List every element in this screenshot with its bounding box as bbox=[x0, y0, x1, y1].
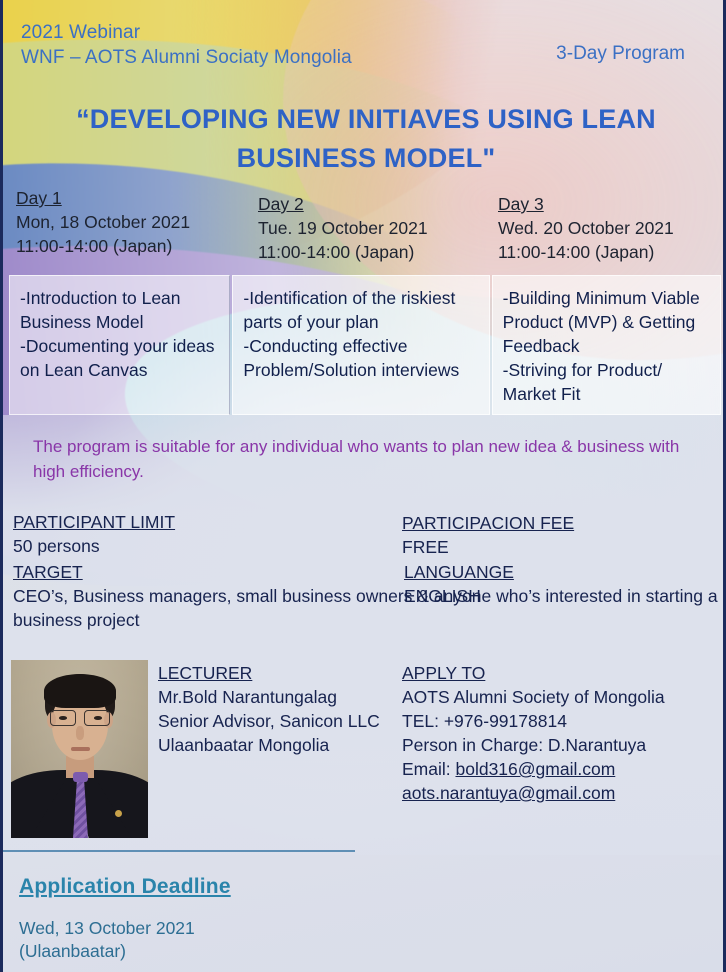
apply-to-block: APPLY TO AOTS Alumni Society of Mongolia… bbox=[402, 661, 665, 805]
language-value: ENGLISH bbox=[404, 584, 514, 608]
day-header-3: Day 3 Wed. 20 October 2021 11:00-14:00 (… bbox=[498, 192, 674, 264]
webinar-poster: 2021 Webinar WNF – AOTS Alumni Sociaty M… bbox=[0, 0, 726, 972]
day-topic-boxes: -Introduction to Lean Business Model -Do… bbox=[9, 275, 721, 415]
application-deadline-heading: Application Deadline bbox=[19, 875, 231, 899]
participant-limit-label: PARTICIPANT LIMIT bbox=[13, 511, 175, 534]
day-2-time: 11:00-14:00 (Japan) bbox=[258, 240, 428, 264]
lecturer-block: LECTURER Mr.Bold Narantungalag Senior Ad… bbox=[158, 661, 380, 757]
apply-to-organization: AOTS Alumni Society of Mongolia bbox=[402, 685, 665, 709]
day-3-title: Day 3 bbox=[498, 192, 544, 216]
glasses-icon bbox=[50, 710, 110, 725]
header-organization: 2021 Webinar WNF – AOTS Alumni Sociaty M… bbox=[21, 20, 352, 70]
page-title: “DEVELOPING NEW INITIAVES USING LEAN BUS… bbox=[41, 100, 691, 178]
day-1-time: 11:00-14:00 (Japan) bbox=[16, 234, 190, 258]
participant-limit-value: 50 persons bbox=[13, 534, 175, 558]
email-label: Email: bbox=[402, 759, 455, 779]
participation-fee-value: FREE bbox=[402, 535, 574, 559]
target-value: CEO’s, Business managers, small business… bbox=[13, 584, 723, 632]
lecturer-photo bbox=[11, 660, 148, 838]
language-label: LANGUANGE bbox=[404, 561, 514, 584]
day-3-time: 11:00-14:00 (Japan) bbox=[498, 240, 674, 264]
section-divider bbox=[3, 850, 355, 852]
apply-to-tel: TEL: +976-99178814 bbox=[402, 709, 665, 733]
day-header-2: Day 2 Tue. 19 October 2021 11:00-14:00 (… bbox=[258, 192, 428, 264]
day-2-title: Day 2 bbox=[258, 192, 304, 216]
apply-to-person-in-charge: Person in Charge: D.Narantuya bbox=[402, 733, 665, 757]
target-label: TARGET bbox=[13, 561, 723, 584]
portrait-tie-knot bbox=[73, 772, 88, 782]
apply-to-label: APPLY TO bbox=[402, 661, 665, 685]
day-header-1: Day 1 Mon, 18 October 2021 11:00-14:00 (… bbox=[16, 186, 190, 258]
section-participation-fee: PARTICIPACION FEE FREE bbox=[402, 512, 574, 559]
header-program-length: 3-Day Program bbox=[556, 42, 685, 66]
email-link-secondary[interactable]: aots.narantuya@gmail.com bbox=[402, 781, 665, 805]
section-target: TARGET CEO’s, Business managers, small b… bbox=[13, 561, 723, 632]
day-2-date: Tue. 19 October 2021 bbox=[258, 216, 428, 240]
section-language: LANGUANGE ENGLISH bbox=[404, 561, 514, 608]
apply-to-email-row: Email: bold316@gmail.com bbox=[402, 757, 665, 781]
email-link-primary[interactable]: bold316@gmail.com bbox=[455, 759, 615, 779]
portrait-mouth bbox=[71, 747, 90, 751]
day-1-title: Day 1 bbox=[16, 186, 62, 210]
portrait-hair-front bbox=[44, 674, 116, 708]
lecturer-details: Mr.Bold Narantungalag Senior Advisor, Sa… bbox=[158, 685, 380, 757]
day-3-date: Wed. 20 October 2021 bbox=[498, 216, 674, 240]
lecturer-label: LECTURER bbox=[158, 661, 380, 685]
day-1-topics: -Introduction to Lean Business Model -Do… bbox=[9, 275, 230, 415]
suitability-note: The program is suitable for any individu… bbox=[33, 434, 693, 484]
day-1-date: Mon, 18 October 2021 bbox=[16, 210, 190, 234]
participation-fee-label: PARTICIPACION FEE bbox=[402, 512, 574, 535]
application-deadline-value: Wed, 13 October 2021 (Ulaanbaatar) bbox=[19, 917, 195, 963]
portrait-nose bbox=[76, 726, 84, 740]
day-3-topics: -Building Minimum Viable Product (MVP) &… bbox=[492, 275, 721, 415]
portrait-lapel-pin bbox=[115, 810, 122, 817]
section-participant-limit: PARTICIPANT LIMIT 50 persons bbox=[13, 511, 175, 558]
day-2-topics: -Identification of the riskiest parts of… bbox=[232, 275, 489, 415]
